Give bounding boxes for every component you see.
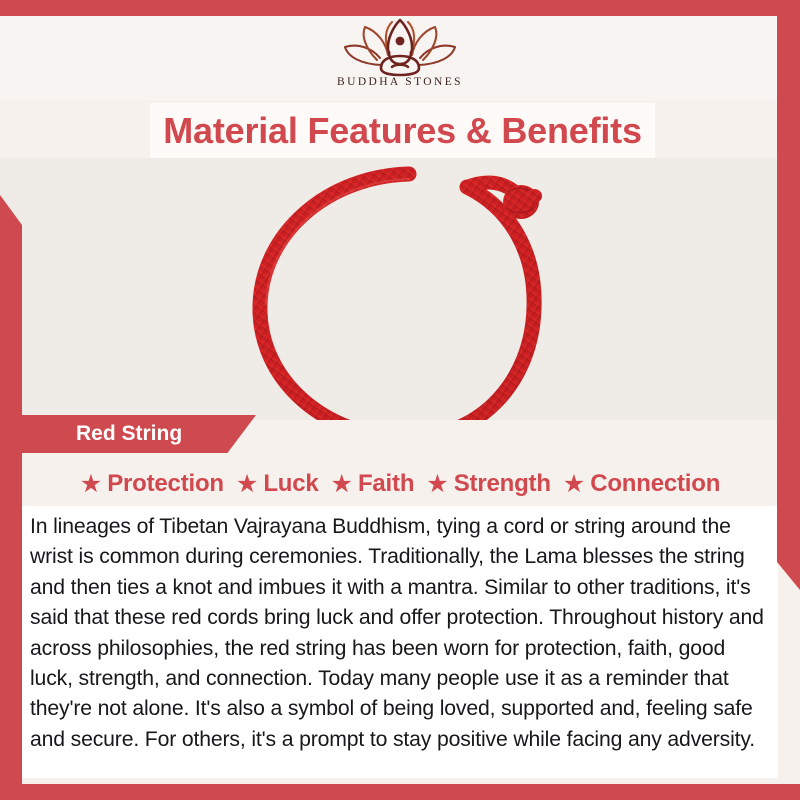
frame-band-bottom — [0, 784, 800, 800]
star-icon: ★ — [563, 472, 585, 497]
frame-band-top — [0, 0, 800, 16]
page-title-banner: Material Features & Benefits — [150, 103, 655, 158]
brand-name: BUDDHA STONES — [337, 76, 463, 88]
frame-band-left — [0, 195, 22, 800]
benefit-label-strength: Strength — [454, 470, 551, 498]
frame-band-right — [777, 0, 800, 590]
description-text: In lineages of Tibetan Vajrayana Buddhis… — [30, 512, 766, 755]
benefit-item-faith: ★ Faith — [331, 470, 415, 498]
page-title: Material Features & Benefits — [163, 110, 642, 152]
benefit-item-connection: ★ Connection — [563, 470, 720, 498]
red-string-bracelet-image — [224, 160, 584, 420]
benefit-label-luck: Luck — [263, 470, 318, 498]
benefit-label-faith: Faith — [358, 470, 414, 498]
benefit-item-protection: ★ Protection — [80, 470, 224, 498]
infographic-canvas: BUDDHA STONES Material Features & Benefi… — [0, 0, 800, 800]
benefit-item-luck: ★ Luck — [236, 470, 319, 498]
material-label: Red String — [76, 422, 182, 446]
benefit-item-strength: ★ Strength — [426, 470, 550, 498]
material-label-banner: Red String — [18, 415, 256, 453]
description-panel: In lineages of Tibetan Vajrayana Buddhis… — [22, 506, 778, 778]
lotus-meditation-icon — [341, 16, 459, 78]
benefit-label-connection: Connection — [590, 470, 720, 498]
star-icon: ★ — [426, 472, 448, 497]
star-icon: ★ — [331, 472, 353, 497]
benefits-row: ★ Protection ★ Luck ★ Faith ★ Strength ★… — [0, 462, 800, 506]
star-icon: ★ — [80, 472, 102, 497]
star-icon: ★ — [236, 472, 258, 497]
product-photo-area — [0, 158, 800, 420]
brand-header: BUDDHA STONES — [0, 16, 800, 100]
benefit-label-protection: Protection — [107, 470, 224, 498]
